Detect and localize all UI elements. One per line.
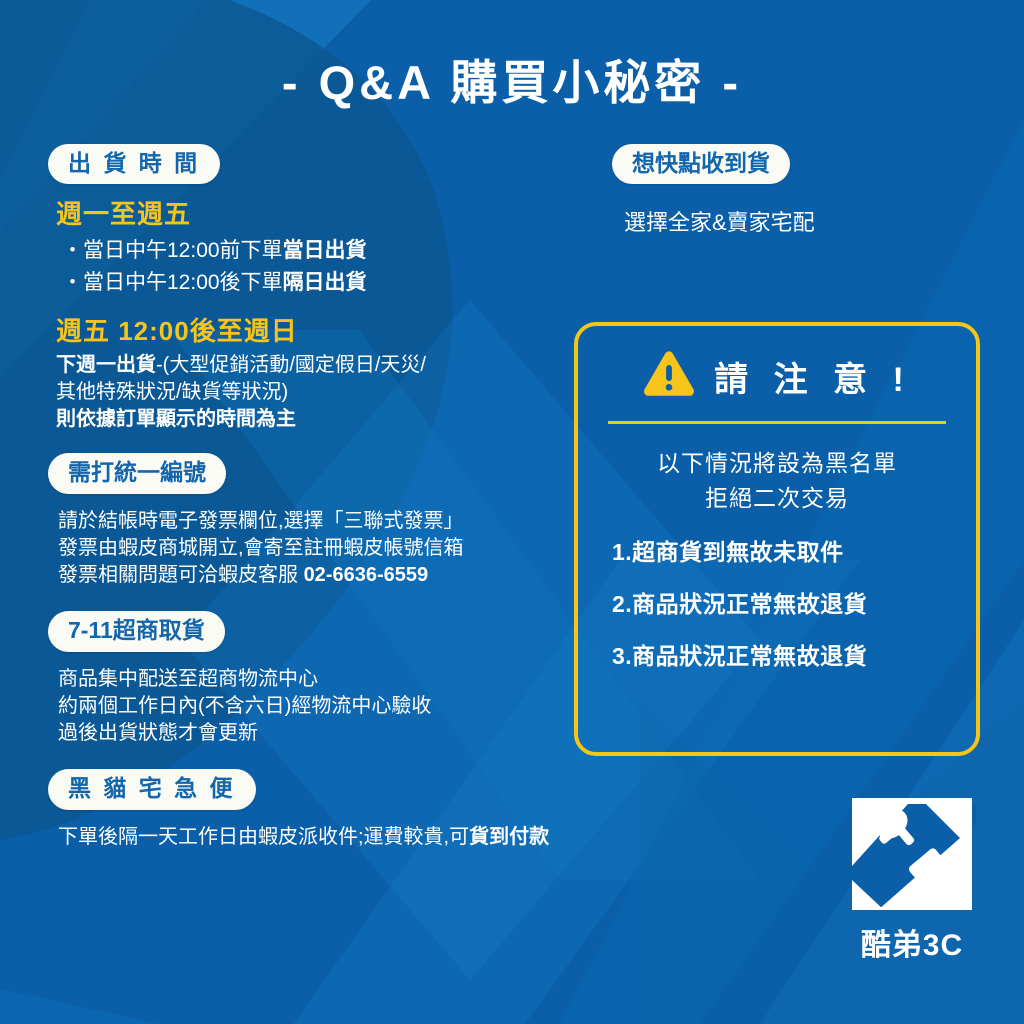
seven-eleven-line: 商品集中配送至超商物流中心	[58, 666, 608, 693]
heading-weekday: 週一至週五	[56, 194, 608, 231]
warning-list-item: 2.商品狀況正常無故退貨	[612, 585, 976, 619]
customer-service-phone: 02-6636-6559	[304, 564, 429, 586]
warning-header: 請 注 意 !	[578, 350, 976, 403]
weekend-strong: 依據訂單顯示的時間為主	[76, 408, 296, 430]
list-item: ・當日中午12:00後下單隔日出貨	[62, 269, 608, 297]
page-title: - Q&A 購買小秘密 -	[0, 44, 1024, 113]
section-invoice: 需打統一編號 請於結帳時電子發票欄位,選擇「三聯式發票」 發票由蝦皮商城開立,會…	[48, 453, 608, 589]
bullet-strong: 隔日出貨	[283, 271, 367, 294]
warning-list-item: 3.商品狀況正常無故退貨	[612, 637, 976, 671]
warning-list-item: 1.超商貨到無故未取件	[612, 533, 976, 567]
warning-subtitle: 拒絕二次交易	[578, 481, 976, 516]
left-column: 出 貨 時 間 週一至週五 ・當日中午12:00前下單當日出貨 ・當日中午12:…	[48, 144, 608, 857]
warning-subtitle: 以下情況將設為黑名單	[578, 446, 976, 481]
badge-invoice: 需打統一編號	[48, 453, 226, 493]
weekend-strong: 下週一出貨	[56, 354, 156, 376]
badge-fast-delivery: 想快點收到貨	[612, 144, 790, 184]
weekend-line: 則依據訂單顯示的時間為主	[56, 406, 608, 433]
badge-seven-eleven: 7-11超商取貨	[48, 611, 225, 651]
section-seven-eleven: 7-11超商取貨 商品集中配送至超商物流中心 約兩個工作日內(不含六日)經物流中…	[48, 611, 608, 747]
weekend-line: 其他特殊狀況/缺貨等狀況)	[56, 379, 608, 406]
warning-box: 請 注 意 ! 以下情況將設為黑名單 拒絕二次交易 1.超商貨到無故未取件 2.…	[574, 322, 980, 756]
warning-divider	[608, 421, 946, 424]
invoice-line: 請於結帳時電子發票欄位,選擇「三聯式發票」	[58, 508, 608, 535]
warning-triangle-icon	[642, 350, 696, 403]
bullet-strong: 當日出貨	[283, 239, 367, 262]
section-shipping-time: 出 貨 時 間 週一至週五 ・當日中午12:00前下單當日出貨 ・當日中午12:…	[48, 144, 608, 433]
weekend-prefix: 則	[56, 408, 76, 430]
black-cat-line: 下單後隔一天工作日由蝦皮派收件;運費較貴,可貨到付款	[58, 824, 608, 851]
section-black-cat: 黑 貓 宅 急 便 下單後隔一天工作日由蝦皮派收件;運費較貴,可貨到付款	[48, 769, 608, 851]
invoice-phone-line: 發票相關問題可洽蝦皮客服 02-6636-6559	[58, 562, 608, 589]
section-fast-delivery: 想快點收到貨 選擇全家&賣家宅配	[612, 144, 1002, 238]
list-item: ・當日中午12:00前下單當日出貨	[62, 237, 608, 265]
cod-strong: 貨到付款	[469, 826, 549, 848]
fast-delivery-line: 選擇全家&賣家宅配	[624, 208, 1002, 238]
weekend-line: 下週一出貨-(大型促銷活動/國定假日/天災/	[56, 352, 608, 379]
heading-weekend: 週五 12:00後至週日	[56, 311, 608, 348]
poster-canvas: - Q&A 購買小秘密 - 出 貨 時 間 週一至週五 ・當日中午12:00前下…	[0, 0, 1024, 1024]
plug-connector-icon	[848, 794, 976, 914]
weekday-bullets: ・當日中午12:00前下單當日出貨 ・當日中午12:00後下單隔日出貨	[62, 237, 608, 296]
seven-eleven-line: 過後出貨狀態才會更新	[58, 720, 608, 747]
warning-title: 請 注 意 !	[714, 352, 912, 401]
invoice-line: 發票由蝦皮商城開立,會寄至註冊蝦皮帳號信箱	[58, 535, 608, 562]
badge-black-cat: 黑 貓 宅 急 便	[48, 769, 256, 809]
right-column: 想快點收到貨 選擇全家&賣家宅配	[612, 144, 1002, 244]
seven-eleven-line: 約兩個工作日內(不含六日)經物流中心驗收	[58, 693, 608, 720]
badge-shipping-time: 出 貨 時 間	[48, 144, 220, 184]
logo-text: 酷弟3C	[838, 920, 986, 964]
brand-logo: 酷弟3C	[838, 794, 988, 964]
